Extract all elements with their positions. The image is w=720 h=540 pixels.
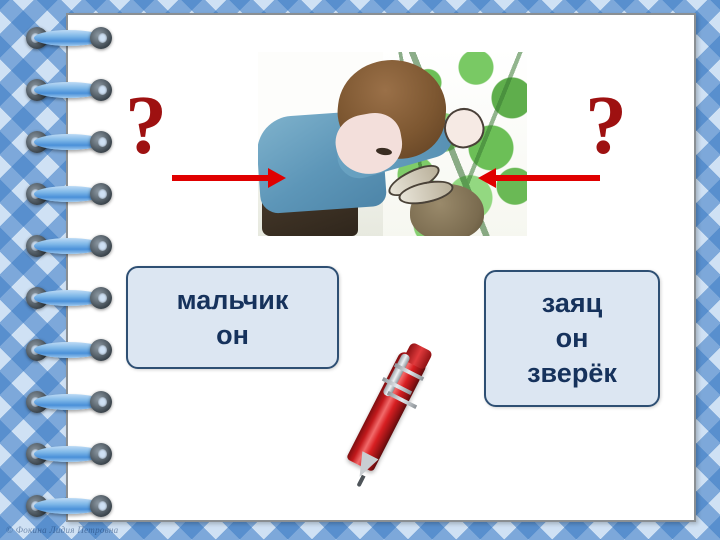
word-box-malchik[interactable]: мальчик он — [126, 266, 339, 369]
slide-canvas: ? ? мальчик он заяц он зверёк © Фокина Л… — [0, 0, 720, 540]
word-line: заяц — [542, 286, 602, 321]
boy-and-hare-illustration — [258, 52, 527, 236]
arrow-head — [268, 168, 286, 188]
left-question-mark: ? — [125, 84, 167, 168]
arrow-left-pointing-icon — [478, 168, 600, 188]
pen-tip-nib — [356, 475, 365, 488]
word-line: зверёк — [527, 356, 617, 391]
right-question-mark: ? — [585, 84, 627, 168]
word-line: он — [556, 321, 589, 356]
arrow-shaft — [496, 175, 600, 181]
arrow-head — [478, 168, 496, 188]
word-line: мальчик — [177, 283, 289, 318]
red-pen-graphic — [336, 336, 446, 486]
word-box-zayats[interactable]: заяц он зверёк — [484, 270, 660, 407]
arrow-right-pointing-icon — [172, 168, 286, 188]
arrow-shaft — [172, 175, 270, 181]
word-line: он — [216, 318, 249, 353]
pen-barrel — [346, 350, 428, 472]
copyright-watermark: © Фокина Лидия Петровна — [6, 525, 118, 535]
